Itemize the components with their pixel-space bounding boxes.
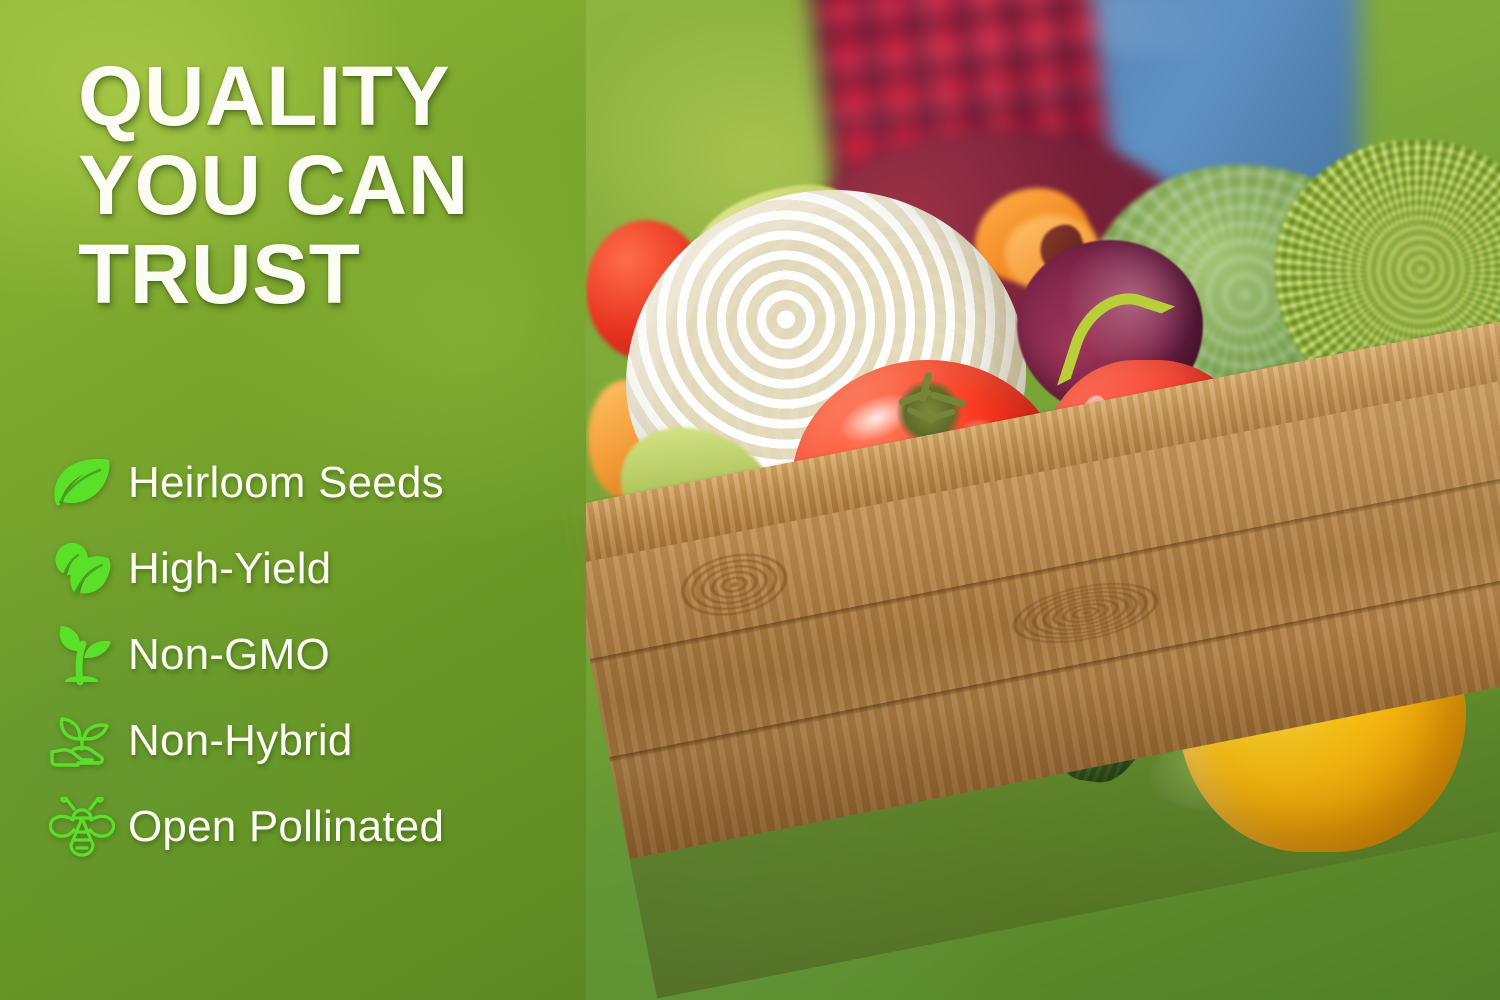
promo-banner: QUALITY YOU CAN TRUST Heirloom Seeds: [0, 0, 1500, 1000]
hand-sprout-icon: [36, 701, 128, 781]
feature-label: High-Yield: [128, 544, 331, 594]
feature-item-heirloom-seeds: Heirloom Seeds: [36, 440, 576, 526]
headline-line-1: QUALITY: [78, 52, 558, 141]
sprout-icon: [36, 615, 128, 695]
feature-label: Non-Hybrid: [128, 716, 353, 766]
feature-item-open-pollinated: Open Pollinated: [36, 784, 576, 870]
feature-label: Heirloom Seeds: [128, 458, 444, 508]
feature-item-non-hybrid: Non-Hybrid: [36, 698, 576, 784]
headline-line-3: TRUST: [78, 230, 558, 319]
green-text-panel: QUALITY YOU CAN TRUST Heirloom Seeds: [0, 0, 586, 1000]
feature-label: Open Pollinated: [128, 802, 444, 852]
bee-icon: [36, 787, 128, 867]
two-leaves-icon: [36, 529, 128, 609]
leaf-icon: [36, 443, 128, 523]
feature-item-high-yield: High-Yield: [36, 526, 576, 612]
headline-line-2: YOU CAN: [78, 141, 558, 230]
feature-label: Non-GMO: [128, 630, 330, 680]
feature-item-non-gmo: Non-GMO: [36, 612, 576, 698]
page-title: QUALITY YOU CAN TRUST: [78, 52, 558, 319]
feature-list: Heirloom Seeds High-Yield: [36, 440, 576, 870]
